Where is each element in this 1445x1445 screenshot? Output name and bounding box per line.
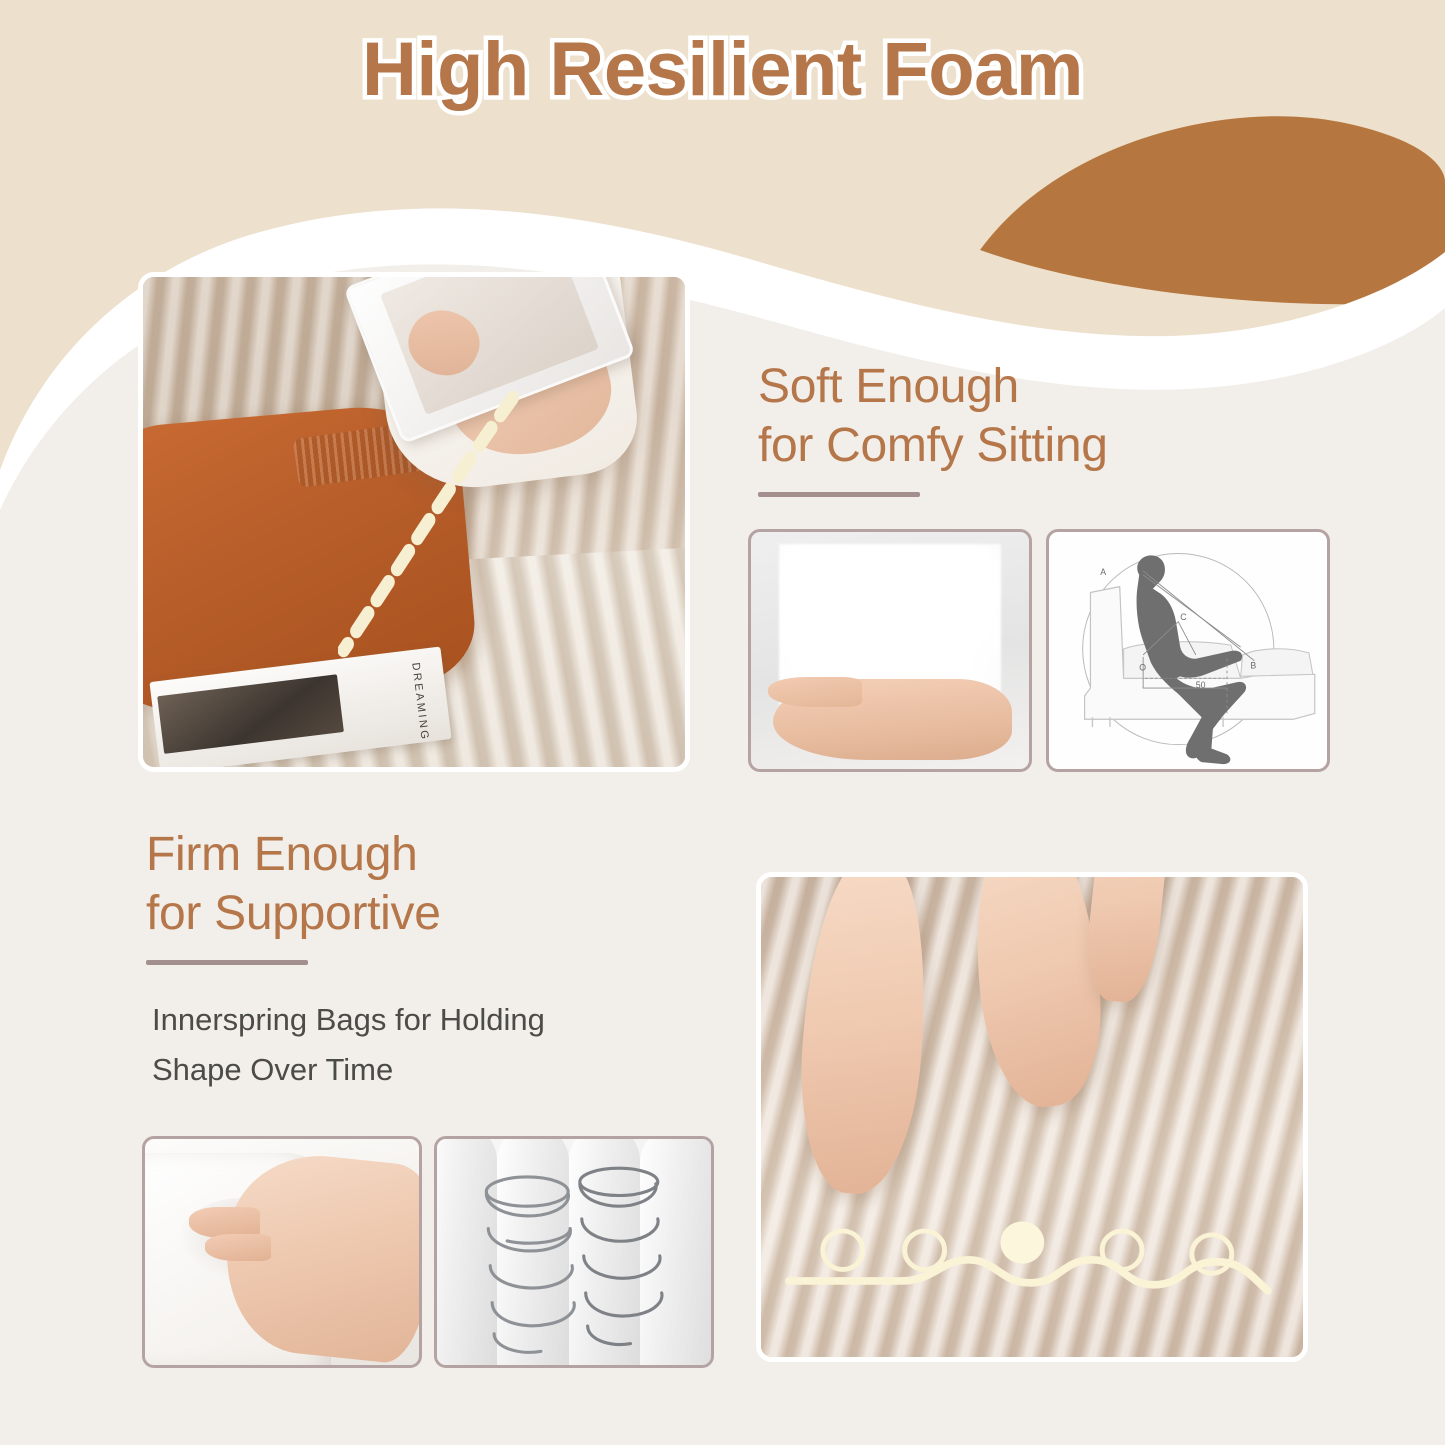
palm-fingers (768, 677, 863, 708)
body-copy-firm-line1: Innerspring Bags for Holding (152, 995, 712, 1045)
headline-soft: Soft Enough for Comfy Sitting (758, 358, 1318, 475)
svg-text:O: O (1139, 662, 1146, 672)
page-title-container: High Resilient Foam (0, 26, 1445, 113)
photo-feet-on-cushion (756, 872, 1308, 1362)
svg-text:C: C (1180, 612, 1186, 622)
body-copy-firm: Innerspring Bags for Holding Shape Over … (152, 995, 712, 1094)
svg-text:B: B (1250, 661, 1256, 671)
magazine-title: DREAMING (409, 662, 431, 742)
svg-text:A: A (1100, 567, 1106, 577)
ergonomic-posture-diagram: A B C O 50 (1049, 532, 1327, 769)
headline-firm-line1: Firm Enough (146, 826, 666, 885)
hand-finger-second (205, 1234, 271, 1261)
headline-soft-line2: for Comfy Sitting (758, 417, 1318, 476)
headline-soft-line1: Soft Enough (758, 358, 1318, 417)
headline-firm-line2: for Supportive (146, 885, 666, 944)
card-ergonomic-diagram: A B C O 50 (1046, 529, 1330, 772)
coil-springs-illustration (437, 1139, 711, 1365)
headline-firm: Firm Enough for Supportive (146, 826, 666, 943)
divider-rule-firm (146, 960, 308, 965)
card-pocket-springs (434, 1136, 714, 1368)
card-foam-press (142, 1136, 422, 1368)
svg-text:50: 50 (1196, 680, 1206, 690)
photo-person-reading: DREAMING (138, 272, 690, 772)
body-copy-firm-line2: Shape Over Time (152, 1045, 712, 1095)
card-fiberfill (748, 529, 1032, 772)
divider-rule-soft (758, 492, 920, 497)
magazine-photo (157, 674, 344, 753)
page-title: High Resilient Foam (362, 26, 1083, 113)
